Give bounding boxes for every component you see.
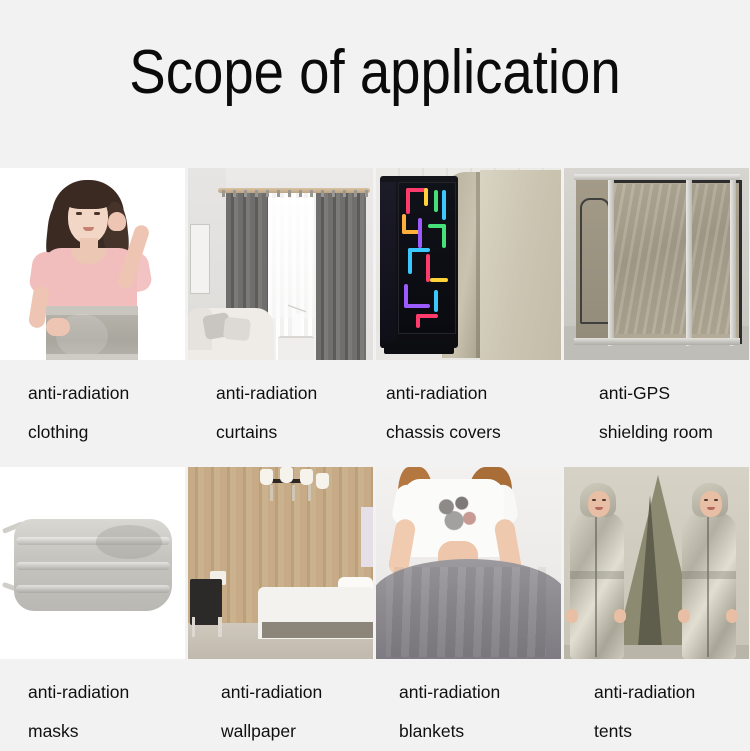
chandelier-bulb-two xyxy=(280,467,293,483)
caption-line-1: anti-radiation xyxy=(28,374,185,413)
face-left xyxy=(588,491,610,517)
image-anti-radiation-masks xyxy=(0,467,185,659)
suit-belt-right xyxy=(682,571,736,579)
apron-waistband xyxy=(46,306,138,315)
fabric-cover-drape xyxy=(480,170,561,360)
eye-left xyxy=(704,499,708,501)
caption-anti-radiation-masks: anti-radiation masks xyxy=(0,659,185,751)
caption-line-1: anti-radiation xyxy=(216,374,373,413)
grid-item-anti-radiation-tents[interactable]: anti-radiation tents xyxy=(564,467,749,751)
frame-rail-bottom xyxy=(574,338,740,345)
caption-anti-radiation-curtains: anti-radiation curtains xyxy=(188,360,373,452)
person-right xyxy=(680,483,736,659)
frame-post-two xyxy=(686,174,692,346)
product-feature-page: Scope of application xyxy=(0,0,750,750)
caption-anti-radiation-tents: anti-radiation tents xyxy=(564,659,749,751)
chandelier-bulb-one xyxy=(260,469,273,485)
grid-item-anti-radiation-chassis-covers[interactable]: anti-radiation chassis covers xyxy=(376,168,561,452)
eye-right xyxy=(714,499,718,501)
rgb-maze-lighting xyxy=(400,184,452,330)
image-anti-radiation-chassis-covers xyxy=(376,168,561,360)
grid-item-anti-radiation-masks[interactable]: anti-radiation masks xyxy=(0,467,185,751)
hand-left xyxy=(678,609,690,623)
eye-right xyxy=(94,212,100,215)
mask-pleat-three xyxy=(16,585,170,593)
caption-anti-radiation-clothing: anti-radiation clothing xyxy=(0,360,185,452)
chandelier-crystal-one xyxy=(270,485,273,501)
side-table xyxy=(278,336,314,360)
grid-row: anti-radiation masks xyxy=(0,467,750,751)
pc-case-side-panel xyxy=(380,182,396,342)
suit-zipper-left xyxy=(595,517,597,657)
image-anti-gps-shielding-room xyxy=(564,168,749,360)
frame-post-three xyxy=(730,174,736,346)
apron-hem xyxy=(46,354,138,360)
vase-shape xyxy=(292,314,301,338)
grid-item-anti-gps-shielding-room[interactable]: anti-GPS shielding room xyxy=(564,168,749,452)
caption-anti-radiation-wallpaper: anti-radiation wallpaper xyxy=(188,659,373,751)
fabric-cover-edge xyxy=(476,172,480,358)
person-left xyxy=(568,483,624,659)
mask-shading xyxy=(96,525,162,559)
chair-legs xyxy=(192,617,222,637)
mask-pleat-two xyxy=(16,562,170,570)
face-right xyxy=(700,491,722,517)
caption-line-1: anti-GPS xyxy=(599,374,749,413)
hand-left xyxy=(46,318,70,336)
suit-belt-left xyxy=(570,571,624,579)
side-light-strip xyxy=(361,507,373,567)
tshirt-print xyxy=(432,493,480,539)
caption-line-2: masks xyxy=(28,712,185,751)
caption-anti-radiation-chassis-covers: anti-radiation chassis covers xyxy=(376,360,561,452)
hand-left xyxy=(566,609,578,623)
grid-item-anti-radiation-curtains[interactable]: anti-radiation curtains xyxy=(188,168,373,452)
bed-base xyxy=(262,622,373,638)
page-title: Scope of application xyxy=(45,36,705,110)
frame-post-one xyxy=(608,174,614,346)
shielding-suit-right xyxy=(682,513,736,659)
cushion-two xyxy=(223,317,251,342)
frame-rail-top xyxy=(574,174,740,180)
blanket-folds xyxy=(386,567,546,657)
caption-line-1: anti-radiation xyxy=(221,673,373,712)
pc-case-foot xyxy=(384,344,454,354)
caption-line-2: chassis covers xyxy=(386,413,561,452)
caption-anti-radiation-blankets: anti-radiation blankets xyxy=(376,659,561,751)
grid-item-anti-radiation-wallpaper[interactable]: anti-radiation wallpaper xyxy=(188,467,373,751)
caption-line-2: curtains xyxy=(216,413,373,452)
caption-line-1: anti-radiation xyxy=(28,673,185,712)
image-anti-radiation-blankets xyxy=(376,467,561,659)
curtain-right-panel xyxy=(316,193,366,360)
caption-anti-gps-shielding-room: anti-GPS shielding room xyxy=(564,360,749,452)
chandelier-bulb-three xyxy=(300,469,313,485)
fringe-shape xyxy=(64,187,112,209)
caption-line-1: anti-radiation xyxy=(386,374,561,413)
eye-left xyxy=(76,212,82,215)
picture-frame xyxy=(190,224,210,294)
hand-right xyxy=(614,609,626,623)
caption-line-2: blankets xyxy=(399,712,561,751)
grid-row: anti-radiation clothing xyxy=(0,168,750,452)
fabric-wrinkles xyxy=(614,184,730,334)
image-anti-radiation-wallpaper xyxy=(188,467,373,659)
chandelier-crystal-three xyxy=(308,485,311,501)
suit-zipper-right xyxy=(707,517,709,657)
image-anti-radiation-clothing xyxy=(0,168,185,360)
caption-line-2: shielding room xyxy=(599,413,749,452)
eye-right xyxy=(602,499,606,501)
caption-line-1: anti-radiation xyxy=(594,673,749,712)
image-anti-radiation-curtains xyxy=(188,168,373,360)
chandelier-crystal-two xyxy=(292,485,295,501)
caption-line-2: wallpaper xyxy=(221,712,373,751)
caption-line-1: anti-radiation xyxy=(399,673,561,712)
caption-line-2: tents xyxy=(594,712,749,751)
grid-item-anti-radiation-clothing[interactable]: anti-radiation clothing xyxy=(0,168,185,452)
chandelier-bulb-four xyxy=(316,473,329,489)
tent-opening xyxy=(638,495,662,647)
hand-right xyxy=(108,212,126,231)
shielding-suit-left xyxy=(570,513,624,659)
image-anti-radiation-tents xyxy=(564,467,749,659)
hand-right xyxy=(726,609,738,623)
application-grid: anti-radiation clothing xyxy=(0,168,750,751)
curtain-rings xyxy=(222,190,368,197)
grid-item-anti-radiation-blankets[interactable]: anti-radiation blankets xyxy=(376,467,561,751)
zippered-door xyxy=(580,198,610,324)
eye-left xyxy=(592,499,596,501)
caption-line-2: clothing xyxy=(28,413,185,452)
